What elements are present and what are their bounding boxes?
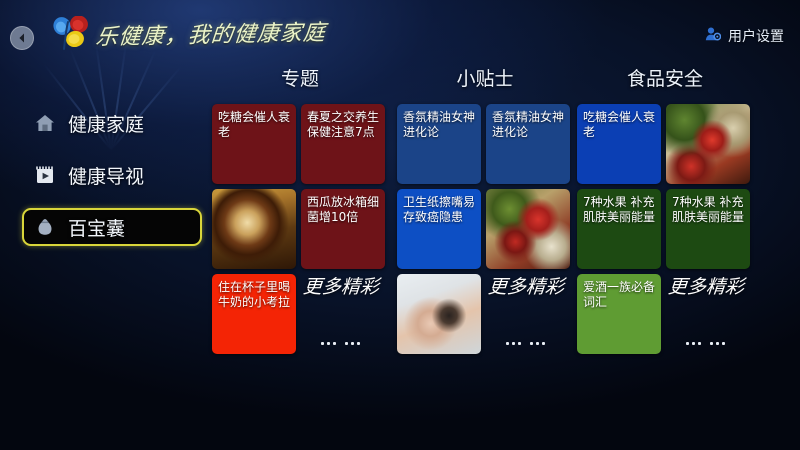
- tile-label: 西瓜放冰箱细菌增10倍: [307, 195, 381, 225]
- tile-label: 吃糖会催人衰老: [583, 110, 657, 140]
- header-bar: 乐健康，我的健康家庭 用户设置: [0, 0, 800, 62]
- home-icon: [34, 112, 56, 134]
- app-root: 乐健康，我的健康家庭 用户设置 健康家庭: [0, 0, 800, 450]
- tile-grid: 吃糖会催人衰老 春夏之交养生保健注意7点 西瓜放冰箱细菌增10倍 住在杯子里喝牛…: [212, 104, 388, 354]
- tile-item[interactable]: 爱酒一族必备词汇: [577, 274, 661, 354]
- tile-label: 香氛精油女神进化论: [492, 110, 566, 140]
- tile-item-photo[interactable]: [486, 189, 570, 269]
- sidebar-nav: 健康家庭 健康导视 百宝囊: [22, 104, 202, 260]
- sidebar-item-label: 健康家庭: [68, 110, 144, 137]
- more-label: 更多精彩: [487, 276, 565, 299]
- tile-grid: 香氛精油女神进化论 香氛精油女神进化论 卫生纸擦嘴易存致癌隐患 更多精彩: [397, 104, 573, 354]
- column-tips: 小贴士 香氛精油女神进化论 香氛精油女神进化论 卫生纸擦嘴易存致癌隐患 更多精彩: [397, 66, 573, 354]
- user-settings-icon: [705, 26, 721, 46]
- column-title: 食品安全: [577, 66, 753, 104]
- tile-label: 卫生纸擦嘴易存致癌隐患: [403, 195, 477, 225]
- more-label: 更多精彩: [302, 276, 380, 299]
- user-settings-button[interactable]: 用户设置: [705, 26, 784, 46]
- tile-item-photo[interactable]: [666, 104, 750, 184]
- more-dots-icon: [686, 342, 725, 345]
- tile-item-more[interactable]: 更多精彩: [666, 274, 750, 354]
- tile-item[interactable]: 香氛精油女神进化论: [486, 104, 570, 184]
- sidebar-item-health-guide[interactable]: 健康导视: [22, 156, 202, 194]
- tile-grid: 吃糖会催人衰老 7种水果 补充肌肤美丽能量 7种水果 补充肌肤美丽能量 爱酒一族…: [577, 104, 753, 354]
- tile-label: 香氛精油女神进化论: [403, 110, 477, 140]
- tile-item[interactable]: 住在杯子里喝牛奶的小考拉: [212, 274, 296, 354]
- more-label: 更多精彩: [667, 276, 745, 299]
- tile-item-photo[interactable]: [212, 189, 296, 269]
- column-title: 专题: [212, 66, 388, 104]
- tile-label: 7种水果 补充肌肤美丽能量: [583, 195, 657, 225]
- bag-icon: [34, 216, 56, 238]
- more-dots-icon: [506, 342, 545, 345]
- sidebar-item-label: 百宝囊: [68, 214, 125, 241]
- sidebar-item-label: 健康导视: [68, 162, 144, 189]
- tile-label: 爱酒一族必备词汇: [583, 280, 657, 310]
- page-title: 乐健康，我的健康家庭: [94, 14, 327, 53]
- tile-label: 住在杯子里喝牛奶的小考拉: [218, 280, 292, 310]
- tile-item[interactable]: 卫生纸擦嘴易存致癌隐患: [397, 189, 481, 269]
- tile-item-photo[interactable]: [397, 274, 481, 354]
- tile-item[interactable]: 香氛精油女神进化论: [397, 104, 481, 184]
- tile-item[interactable]: 7种水果 补充肌肤美丽能量: [666, 189, 750, 269]
- calendar-play-icon: [34, 164, 56, 186]
- sidebar-item-health-family[interactable]: 健康家庭: [22, 104, 202, 142]
- tile-label: 春夏之交养生保健注意7点: [307, 110, 381, 140]
- back-button[interactable]: [10, 26, 34, 50]
- butterfly-flower-logo: [48, 16, 100, 52]
- user-settings-label: 用户设置: [728, 26, 784, 46]
- tile-label: 吃糖会催人衰老: [218, 110, 292, 140]
- tile-label: 7种水果 补充肌肤美丽能量: [672, 195, 746, 225]
- column-topics: 专题 吃糖会催人衰老 春夏之交养生保健注意7点 西瓜放冰箱细菌增10倍 住在杯子…: [212, 66, 388, 354]
- tile-item[interactable]: 吃糖会催人衰老: [212, 104, 296, 184]
- tile-item-more[interactable]: 更多精彩: [301, 274, 385, 354]
- sidebar-item-treasure-bag[interactable]: 百宝囊: [22, 208, 202, 246]
- column-title: 小贴士: [397, 66, 573, 104]
- chevron-left-icon: [16, 32, 28, 44]
- tile-item[interactable]: 吃糖会催人衰老: [577, 104, 661, 184]
- tile-item[interactable]: 西瓜放冰箱细菌增10倍: [301, 189, 385, 269]
- column-food-safety: 食品安全 吃糖会催人衰老 7种水果 补充肌肤美丽能量 7种水果 补充肌肤美丽能量…: [577, 66, 753, 354]
- tile-item[interactable]: 春夏之交养生保健注意7点: [301, 104, 385, 184]
- more-dots-icon: [321, 342, 360, 345]
- tile-item[interactable]: 7种水果 补充肌肤美丽能量: [577, 189, 661, 269]
- tile-item-more[interactable]: 更多精彩: [486, 274, 570, 354]
